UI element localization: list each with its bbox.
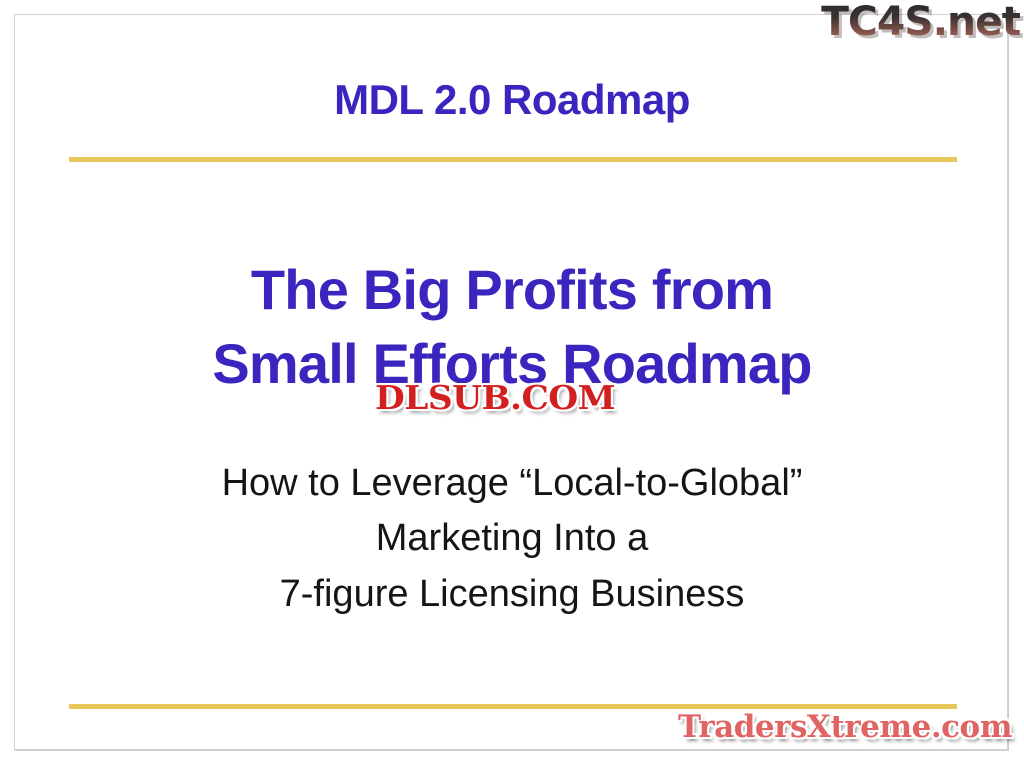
presentation-slide: MDL 2.0 Roadmap The Big Profits from Sma… xyxy=(14,14,1008,750)
slide-title: MDL 2.0 Roadmap xyxy=(15,77,1008,123)
watermark-tradersxtreme: TradersXtreme.com xyxy=(678,712,1012,743)
divider-top xyxy=(69,157,957,162)
subtitle-line-1: How to Leverage “Local-to-Global” xyxy=(15,456,1008,511)
subtitle-line-2: Marketing Into a xyxy=(15,511,1008,566)
headline-line-1: The Big Profits from xyxy=(15,253,1008,327)
subtitle-line-3: 7-figure Licensing Business xyxy=(15,567,1008,622)
slide-subtitle: How to Leverage “Local-to-Global” Market… xyxy=(15,456,1008,622)
watermark-tc4s: TC4S.net xyxy=(821,2,1020,42)
watermark-dlsub: DLSUB.COM xyxy=(375,381,615,414)
